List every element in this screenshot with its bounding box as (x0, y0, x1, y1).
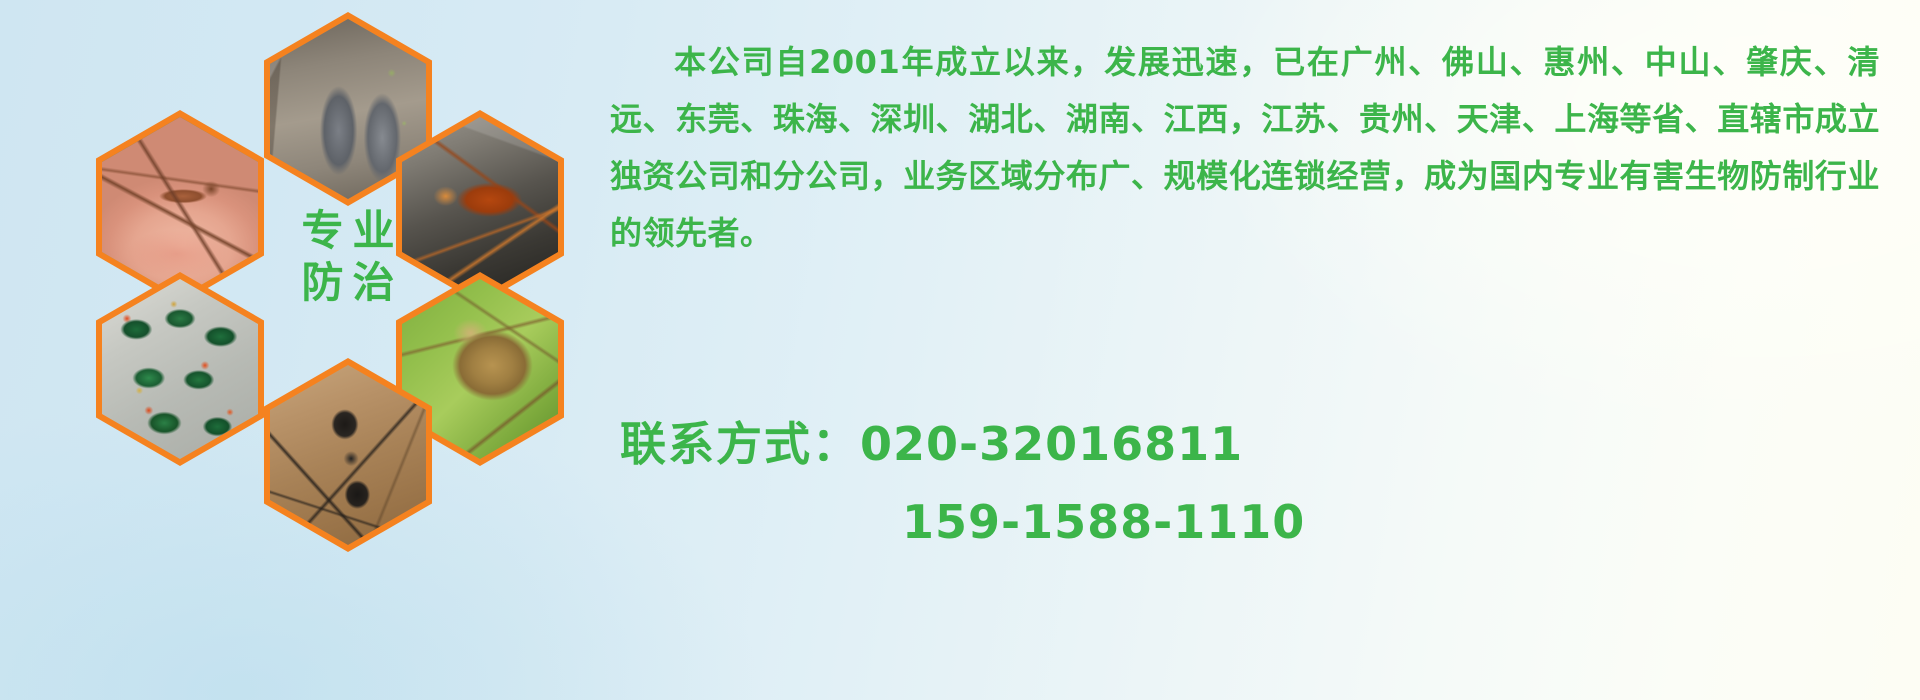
promo-banner: 专业 防治 本公司自2001年成立以来，发展迅速，已在广州、佛山、惠州、中山、肇… (0, 0, 1920, 700)
contact-phone-primary[interactable]: 020-32016811 (860, 417, 1243, 471)
contact-phone-secondary[interactable]: 159-1588-1110 (902, 495, 1305, 549)
hex-photo-frame (102, 117, 258, 297)
contact-secondary-line: 159-1588-1110 (620, 483, 1880, 561)
slogan-line-1: 专业 (292, 210, 403, 252)
hex-photo-frame (270, 365, 426, 545)
copy-column: 本公司自2001年成立以来，发展迅速，已在广州、佛山、惠州、中山、肇庆、清远、东… (610, 34, 1880, 262)
contact-label: 联系方式： (620, 417, 860, 471)
slogan-line-2: 防治 (292, 262, 403, 304)
contact-primary-line: 联系方式：020-32016811 (620, 405, 1880, 483)
hex-photo-frame (102, 279, 258, 459)
flies-photo (102, 279, 258, 459)
honeycomb-graphic: 专业 防治 (78, 0, 598, 560)
mosquito-photo (102, 117, 258, 297)
hex-cell-flies (96, 272, 264, 466)
company-description: 本公司自2001年成立以来，发展迅速，已在广州、佛山、惠州、中山、肇庆、清远、东… (610, 34, 1880, 262)
ant-photo (270, 365, 426, 545)
contact-block: 联系方式：020-32016811 159-1588-1110 (620, 405, 1880, 561)
